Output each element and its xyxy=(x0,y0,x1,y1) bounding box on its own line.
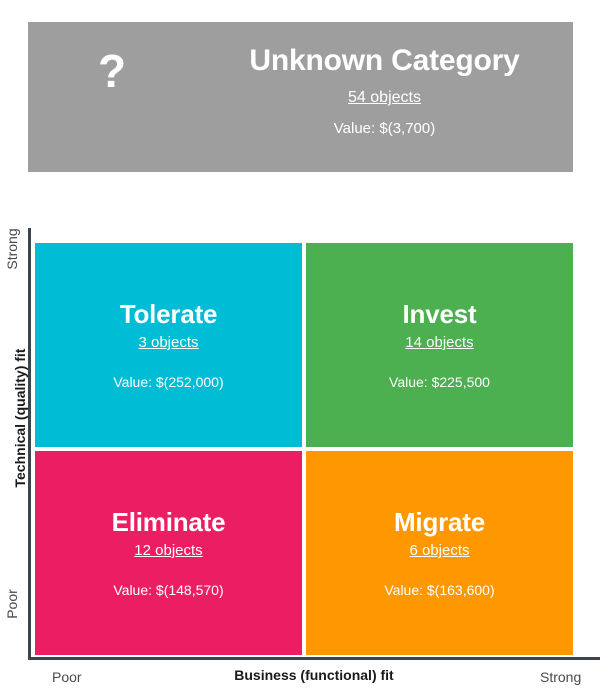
unknown-category-objects-link[interactable]: 54 objects xyxy=(348,86,421,110)
unknown-category-content: Unknown Category 54 objects Value: $(3,7… xyxy=(196,42,573,140)
quadrant-eliminate[interactable]: Eliminate 12 objects Value: $(148,570) xyxy=(35,451,302,655)
quadrant-eliminate-content: Eliminate 12 objects Value: $(148,570) xyxy=(35,506,302,600)
quadrant-invest-objects-link[interactable]: 14 objects xyxy=(405,332,473,354)
quadrant-eliminate-objects-link[interactable]: 12 objects xyxy=(134,540,202,562)
quadrant-migrate-objects-link[interactable]: 6 objects xyxy=(409,540,469,562)
quadrant-invest-title: Invest xyxy=(306,298,573,330)
question-mark-icon: ? xyxy=(28,48,196,94)
y-axis-line xyxy=(28,228,31,660)
quadrant-migrate[interactable]: Migrate 6 objects Value: $(163,600) xyxy=(306,451,573,655)
y-axis-title: Technical (quality) fit xyxy=(12,318,28,518)
quadrant-invest[interactable]: Invest 14 objects Value: $225,500 xyxy=(306,243,573,447)
quadrant-eliminate-value: Value: $(148,570) xyxy=(35,580,302,600)
unknown-category-title: Unknown Category xyxy=(196,42,573,80)
unknown-category-banner[interactable]: ? Unknown Category 54 objects Value: $(3… xyxy=(28,22,573,172)
unknown-category-value: Value: $(3,700) xyxy=(196,118,573,140)
quadrant-tolerate[interactable]: Tolerate 3 objects Value: $(252,000) xyxy=(35,243,302,447)
quadrant-migrate-value: Value: $(163,600) xyxy=(306,580,573,600)
quadrant-invest-value: Value: $225,500 xyxy=(306,372,573,392)
quadrant-eliminate-title: Eliminate xyxy=(35,506,302,538)
quadrant-tolerate-title: Tolerate xyxy=(35,298,302,330)
x-axis-line xyxy=(28,657,600,660)
quadrant-tolerate-content: Tolerate 3 objects Value: $(252,000) xyxy=(35,298,302,392)
y-axis-tick-strong: Strong xyxy=(3,219,21,279)
quadrant-tolerate-value: Value: $(252,000) xyxy=(35,372,302,392)
quadrant-tolerate-objects-link[interactable]: 3 objects xyxy=(138,332,198,354)
quadrant-migrate-content: Migrate 6 objects Value: $(163,600) xyxy=(306,506,573,600)
quadrant-invest-content: Invest 14 objects Value: $225,500 xyxy=(306,298,573,392)
x-axis-title: Business (functional) fit xyxy=(28,667,600,683)
time-matrix-chart: Strong Poor Poor Strong Technical (quali… xyxy=(0,205,600,690)
quadrant-migrate-title: Migrate xyxy=(306,506,573,538)
y-axis-tick-poor: Poor xyxy=(3,574,21,634)
